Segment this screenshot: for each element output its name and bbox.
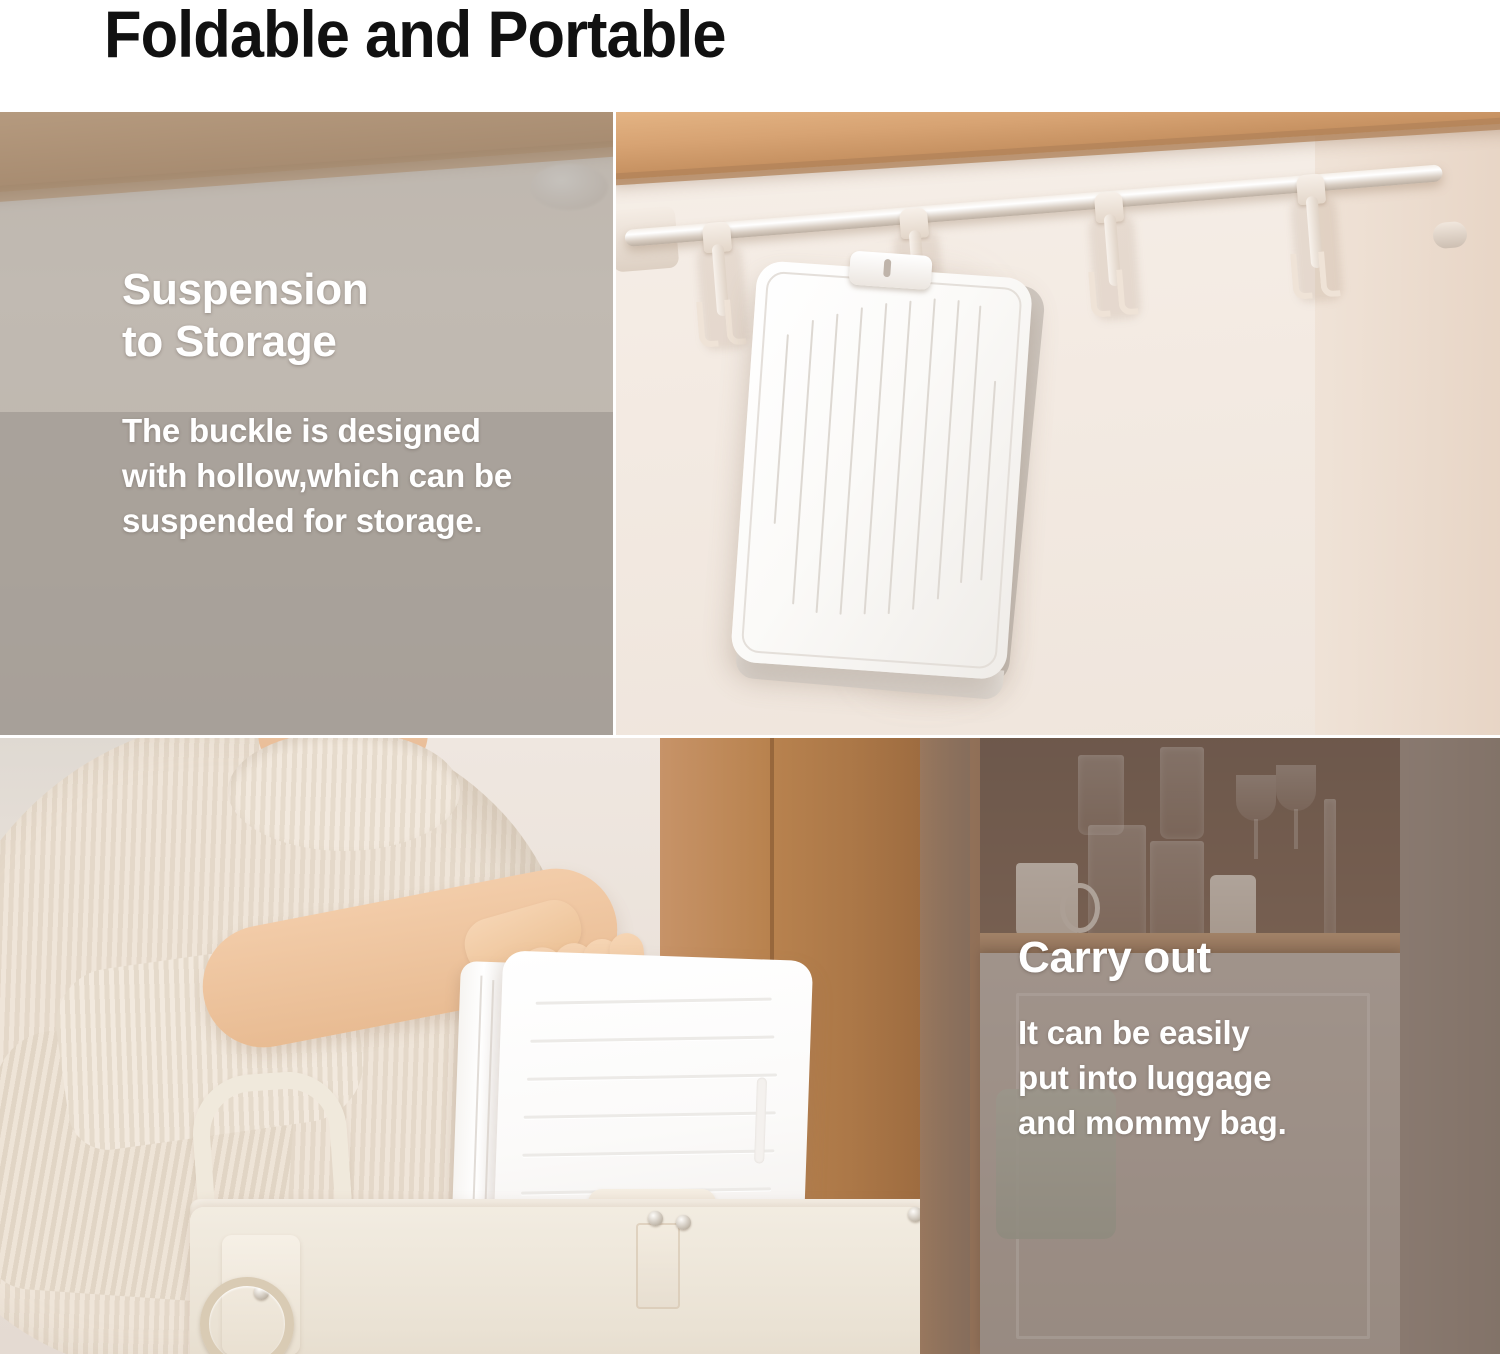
- suspension-body-line2: with hollow,which can be: [122, 453, 512, 498]
- wall-right-shade: [1315, 112, 1500, 737]
- suspension-body-line3: suspended for storage.: [122, 498, 512, 543]
- board-inner-border: [741, 271, 1023, 670]
- carryout-heading-line1: Carry out: [1018, 932, 1211, 984]
- panel-divider-horizontal: [0, 735, 1500, 738]
- wall-hook-icon: [688, 220, 756, 354]
- panel-divider-vertical: [613, 112, 616, 737]
- carryout-body: It can be easily put into luggage and mo…: [1018, 1010, 1287, 1145]
- suspension-heading: Suspension to Storage: [122, 264, 368, 368]
- rivet-icon: [676, 1215, 691, 1230]
- rivet-icon: [648, 1211, 663, 1226]
- tote-bag-reinforcement-patch: [636, 1223, 680, 1309]
- carryout-body-line1: It can be easily: [1018, 1010, 1287, 1055]
- carryout-heading: Carry out: [1018, 932, 1211, 984]
- page-title: Foldable and Portable: [104, 0, 726, 72]
- carryout-body-line3: and mommy bag.: [1018, 1100, 1287, 1145]
- board-front-face: [730, 260, 1033, 680]
- header-bar: Foldable and Portable: [0, 0, 1500, 112]
- wall-hook-icon: [1282, 172, 1350, 306]
- suspension-body: The buckle is designed with hollow,which…: [122, 408, 512, 543]
- hanging-folded-board: [729, 260, 1058, 700]
- rivet-icon: [908, 1207, 920, 1222]
- suspension-heading-line1: Suspension: [122, 264, 368, 316]
- suspension-heading-line2: to Storage: [122, 316, 368, 368]
- carryout-body-line2: put into luggage: [1018, 1055, 1287, 1100]
- panel-tote-bag-photo: [0, 737, 920, 1354]
- taupe-overlay-edge: [920, 737, 970, 1354]
- panel-rail-hanging-photo: [615, 112, 1500, 737]
- buckle-hollow-slot: [883, 259, 891, 277]
- suspension-body-line1: The buckle is designed: [122, 408, 512, 453]
- product-feature-image: Foldable and Portable: [0, 0, 1500, 1354]
- wall-hook-icon: [1080, 190, 1148, 324]
